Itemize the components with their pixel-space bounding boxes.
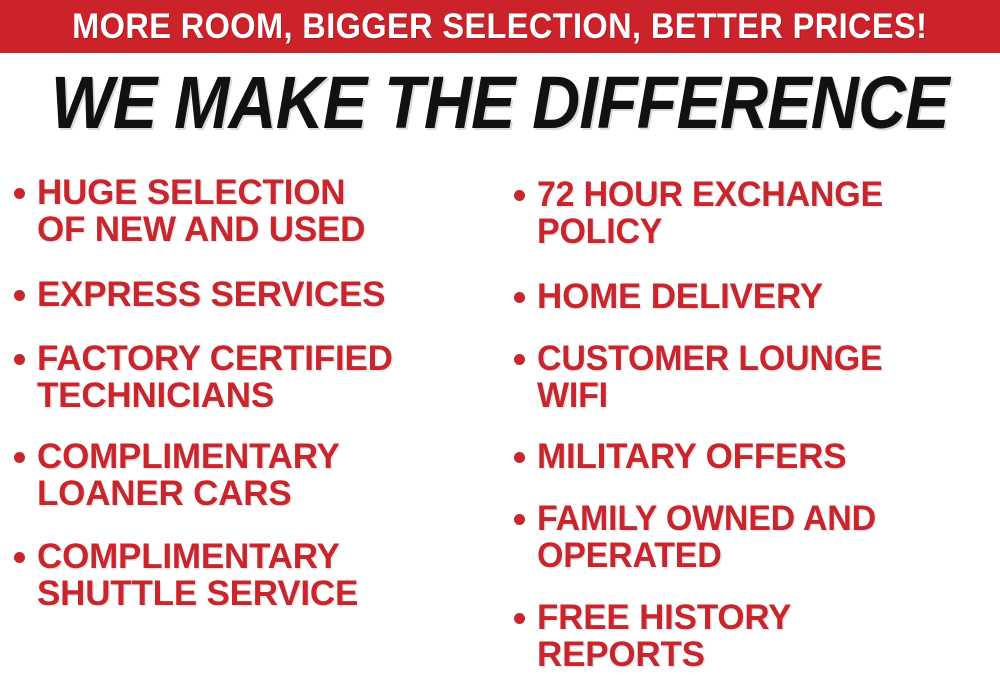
bullet-dot-icon (514, 613, 525, 624)
list-item-label: HUGE SELECTION OF NEW AND USED (37, 174, 365, 248)
list-item-label: FACTORY CERTIFIED TECHNICIANS (37, 340, 393, 414)
list-item: HUGE SELECTION OF NEW AND USED (14, 174, 500, 248)
list-item: MILITARY OFFERS (514, 438, 1000, 475)
bullet-dot-icon (14, 290, 25, 301)
list-item-label: 72 HOUR EXCHANGE POLICY (537, 176, 883, 250)
list-item: COMPLIMENTARY SHUTTLE SERVICE (14, 538, 500, 612)
list-item-label: CUSTOMER LOUNGE WIFI (537, 340, 882, 414)
list-item: HOME DELIVERY (514, 278, 1000, 315)
list-item-label: FREE HISTORY REPORTS (537, 599, 791, 673)
top-banner-text: MORE ROOM, BIGGER SELECTION, BETTER PRIC… (72, 9, 927, 44)
list-item-label: FAMILY OWNED AND OPERATED (537, 500, 876, 574)
headline-text: WE MAKE THE DIFFERENCE (51, 66, 949, 140)
bullet-dot-icon (514, 190, 525, 201)
list-item-label: HOME DELIVERY (537, 278, 823, 315)
list-item-label: MILITARY OFFERS (537, 438, 846, 475)
list-item: COMPLIMENTARY LOANER CARS (14, 438, 500, 512)
list-item: EXPRESS SERVICES (14, 276, 500, 313)
list-item-label: COMPLIMENTARY LOANER CARS (37, 438, 340, 512)
list-item: FAMILY OWNED AND OPERATED (514, 500, 1000, 574)
top-banner: MORE ROOM, BIGGER SELECTION, BETTER PRIC… (0, 0, 1000, 53)
bullet-dot-icon (14, 354, 25, 365)
list-item: FREE HISTORY REPORTS (514, 599, 1000, 673)
list-item-label: COMPLIMENTARY SHUTTLE SERVICE (37, 538, 358, 612)
promotional-poster: MORE ROOM, BIGGER SELECTION, BETTER PRIC… (0, 0, 1000, 694)
headline: WE MAKE THE DIFFERENCE (0, 66, 1000, 140)
benefits-column-right: 72 HOUR EXCHANGE POLICY HOME DELIVERY CU… (514, 160, 1000, 694)
bullet-dot-icon (514, 292, 525, 303)
benefits-columns: HUGE SELECTION OF NEW AND USED EXPRESS S… (0, 160, 1000, 694)
list-item: CUSTOMER LOUNGE WIFI (514, 340, 1000, 414)
bullet-dot-icon (514, 354, 525, 365)
bullet-dot-icon (14, 552, 25, 563)
list-item-label: EXPRESS SERVICES (37, 276, 385, 313)
bullet-dot-icon (514, 514, 525, 525)
list-item: 72 HOUR EXCHANGE POLICY (514, 176, 1000, 250)
bullet-dot-icon (14, 188, 25, 199)
bullet-dot-icon (14, 452, 25, 463)
bullet-dot-icon (514, 452, 525, 463)
list-item: FACTORY CERTIFIED TECHNICIANS (14, 340, 500, 414)
benefits-column-left: HUGE SELECTION OF NEW AND USED EXPRESS S… (14, 160, 500, 694)
